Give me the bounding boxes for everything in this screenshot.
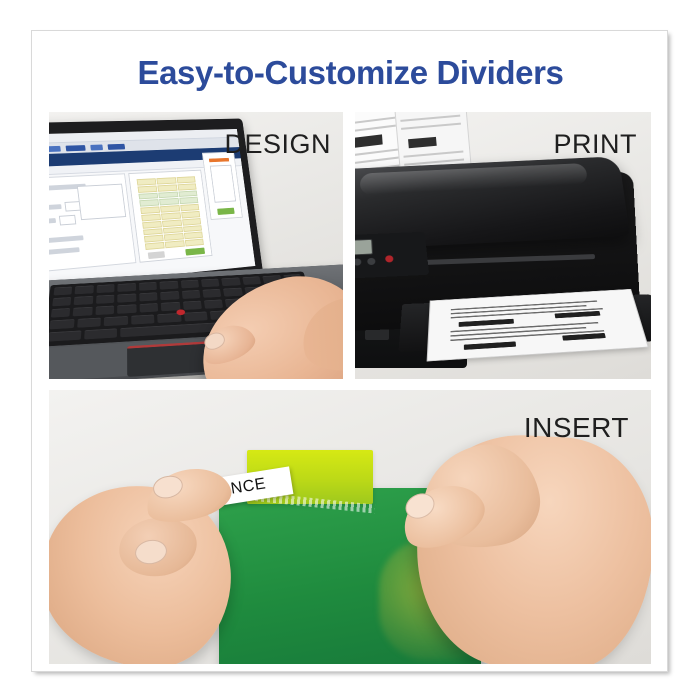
keyboard-key — [49, 319, 74, 329]
keyboard-key — [51, 308, 71, 318]
panel-label-design: DESIGN — [224, 129, 331, 160]
panel-design: DESIGN — [49, 112, 343, 379]
panel-print: PRINT — [355, 112, 651, 379]
screen-preview-box — [77, 184, 126, 220]
page-title: Easy-to-Customize Dividers — [32, 54, 668, 92]
screen-label-cell — [138, 185, 158, 192]
product-image-canvas: Easy-to-Customize Dividers — [0, 0, 700, 700]
keyboard-key — [96, 295, 115, 304]
screen-thumbnail-preview — [210, 165, 236, 203]
screen-primary-button — [185, 248, 205, 256]
keyboard-key — [49, 331, 81, 342]
screen-field-label — [49, 204, 62, 211]
keyboard-key — [202, 289, 221, 298]
keyboard-key — [54, 287, 73, 296]
printer-lid-highlight — [360, 163, 588, 195]
panel-insert: FINANCE INSERT — [49, 390, 651, 664]
keyboard-key — [118, 294, 136, 303]
keyboard-key — [181, 290, 200, 299]
keyboard-key — [223, 288, 242, 297]
screen-label-cell — [185, 239, 204, 247]
screen-label-cell — [176, 176, 195, 183]
screen-label-cell — [165, 240, 185, 248]
screen-settings-panel — [49, 173, 136, 273]
keyboard-key — [118, 283, 136, 292]
screen-thumbnail-button — [217, 208, 235, 215]
screen-label-cell — [145, 242, 165, 250]
keyboard-key — [201, 279, 220, 288]
printer-lcd-display — [355, 239, 373, 256]
keyboard-key — [75, 285, 94, 294]
screen-label-cell — [137, 178, 157, 185]
printer-button[interactable] — [355, 258, 361, 265]
screen-label-grid — [137, 176, 204, 250]
screen-field-label — [49, 218, 56, 225]
keyboard-key — [184, 312, 208, 322]
panel-label-print: PRINT — [554, 129, 638, 160]
keyboard-key — [117, 304, 136, 313]
printer-button[interactable] — [367, 258, 375, 265]
panel-label-insert: INSERT — [524, 412, 629, 444]
keyboard-key — [52, 297, 71, 306]
screen-label-cell — [177, 183, 196, 190]
keyboard-key — [222, 277, 241, 286]
keyboard-key — [95, 306, 114, 315]
screen-field-label — [49, 235, 84, 244]
printer-control-panel — [355, 232, 429, 280]
keyboard-key — [139, 292, 158, 301]
screen-ribbon-chip — [66, 145, 86, 151]
keyboard-key — [73, 307, 92, 317]
printer-power-button[interactable] — [385, 255, 394, 262]
keyboard-key — [182, 301, 201, 310]
keyboard-key — [104, 316, 128, 326]
keyboard-key — [139, 303, 158, 312]
screen-label-cell — [158, 184, 178, 191]
keyboard-key — [180, 280, 199, 289]
screen-label-sheet — [128, 170, 212, 263]
screen-ribbon-chip — [108, 144, 126, 150]
keyboard-key — [139, 282, 157, 291]
keyboard-key — [77, 318, 101, 328]
keyboard-key — [160, 281, 178, 290]
keyboard-key — [84, 328, 117, 339]
keyboard-key — [131, 315, 155, 325]
screen-label-cell — [157, 177, 177, 184]
screen-field-label — [49, 247, 80, 256]
keyboard-key — [74, 296, 93, 305]
screen-ribbon-chip — [90, 145, 103, 151]
screen-secondary-button — [148, 251, 165, 259]
product-card: Easy-to-Customize Dividers — [31, 30, 668, 672]
screen-ribbon-chip — [49, 146, 61, 152]
keyboard-key — [204, 299, 224, 308]
screen-field-input — [59, 215, 76, 226]
keyboard-key — [242, 276, 261, 285]
keyboard-key — [160, 291, 179, 300]
keyboard-key — [96, 284, 114, 293]
